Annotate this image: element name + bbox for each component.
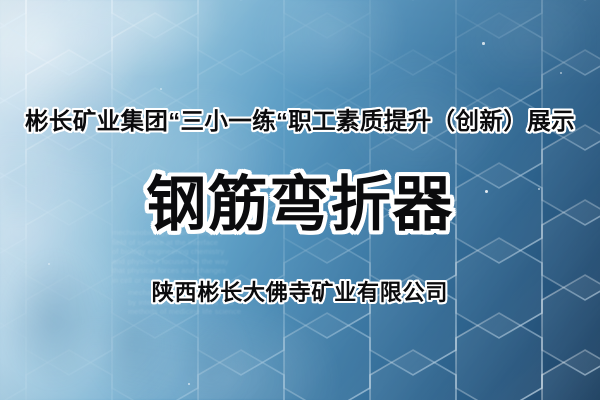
slide-headline: 彬长矿业集团“三小一练“职工素质提升（创新）展示 [0, 106, 600, 136]
slide-company-name: 陕西彬长大佛寺矿业有限公司 [0, 278, 600, 308]
presentation-slide: mechanobiology is an emerging field of s… [0, 0, 600, 400]
slide-content: 彬长矿业集团“三小一练“职工素质提升（创新）展示 钢筋弯折器 陕西彬长大佛寺矿业… [0, 0, 600, 400]
slide-main-title: 钢筋弯折器 [0, 168, 600, 242]
